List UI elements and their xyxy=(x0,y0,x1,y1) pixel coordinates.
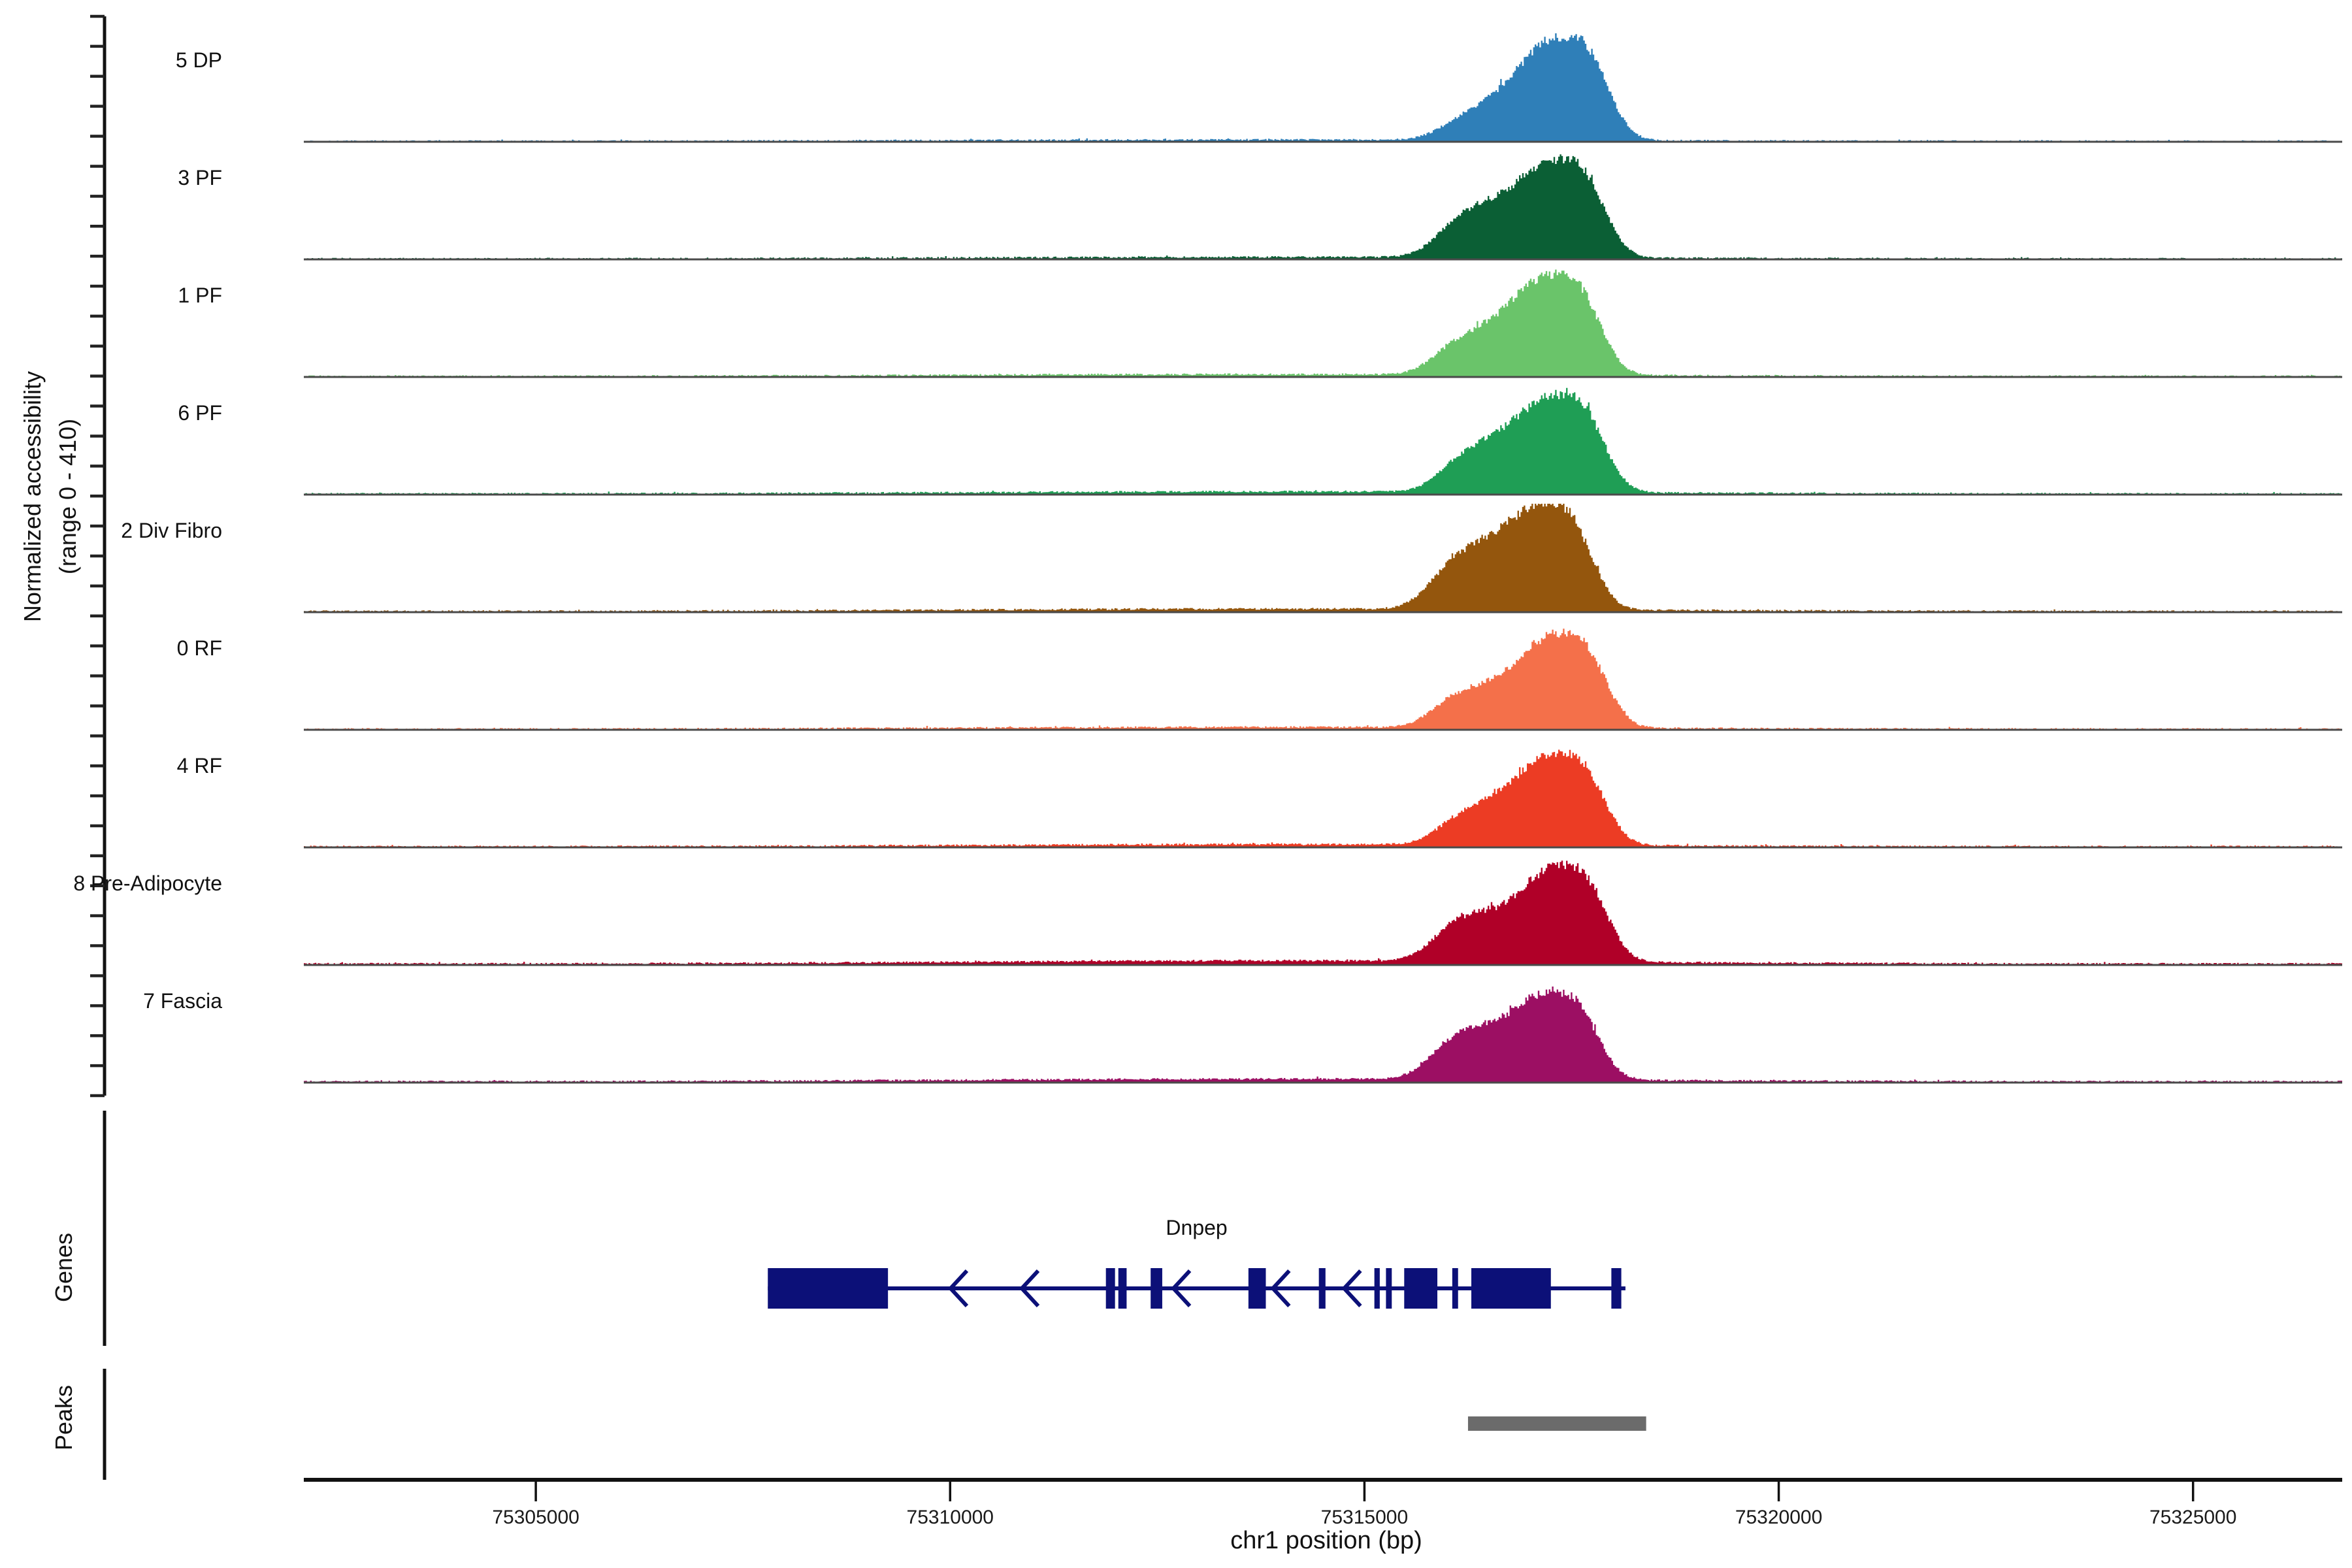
track-label-0-rf: 0 RF xyxy=(177,636,222,660)
peak-region[interactable] xyxy=(1468,1416,1646,1431)
figure-canvas: Normalized accessibility (range 0 - 410)… xyxy=(0,0,2352,1568)
x-axis-title: chr1 position (bp) xyxy=(1230,1527,1422,1554)
y-axis-title-line2: (range 0 - 410) xyxy=(54,419,81,574)
x-axis-tick-label: 75305000 xyxy=(492,1507,579,1528)
gene-exon xyxy=(1386,1268,1392,1309)
gene-exon xyxy=(1249,1268,1266,1309)
track-label-6-pf: 6 PF xyxy=(178,401,222,425)
gene-exon xyxy=(1452,1268,1458,1309)
gene-exon xyxy=(1611,1268,1621,1309)
track-label-8-pre-adipocyte: 8 Pre-Adipocyte xyxy=(73,872,222,895)
track-label-5-dp: 5 DP xyxy=(176,48,222,72)
peaks-section-title: Peaks xyxy=(50,1385,77,1450)
gene-exon xyxy=(1375,1268,1380,1309)
gene-exon xyxy=(1106,1268,1115,1309)
gene-exon xyxy=(768,1268,888,1309)
x-axis-tick-label: 75320000 xyxy=(1735,1507,1822,1528)
track-label-1-pf: 1 PF xyxy=(178,284,222,307)
x-axis-tick-label: 75325000 xyxy=(2149,1507,2236,1528)
genome-track-figure: Normalized accessibility (range 0 - 410)… xyxy=(0,0,2352,1568)
gene-name-label: Dnpep xyxy=(1166,1216,1227,1239)
gene-exon xyxy=(1151,1268,1162,1309)
figure-background xyxy=(0,0,2352,1568)
x-axis-tick-label: 75310000 xyxy=(907,1507,994,1528)
peaks-track xyxy=(1468,1416,1646,1431)
genes-section-title: Genes xyxy=(50,1233,77,1302)
track-label-4-rf: 4 RF xyxy=(177,754,222,777)
peaks-label: Peaks xyxy=(50,1385,77,1450)
gene-exon xyxy=(1319,1268,1326,1309)
track-label-7-fascia: 7 Fascia xyxy=(143,989,222,1013)
x-axis-tick-label: 75315000 xyxy=(1321,1507,1408,1528)
track-label-2-div-fibro: 2 Div Fibro xyxy=(121,519,222,542)
gene-exon xyxy=(1119,1268,1127,1309)
gene-exon xyxy=(1471,1268,1551,1309)
track-label-3-pf: 3 PF xyxy=(178,166,222,189)
genes-label: Genes xyxy=(50,1233,77,1302)
y-axis-title-line1: Normalized accessibility xyxy=(19,371,46,622)
gene-exon xyxy=(1404,1268,1437,1309)
